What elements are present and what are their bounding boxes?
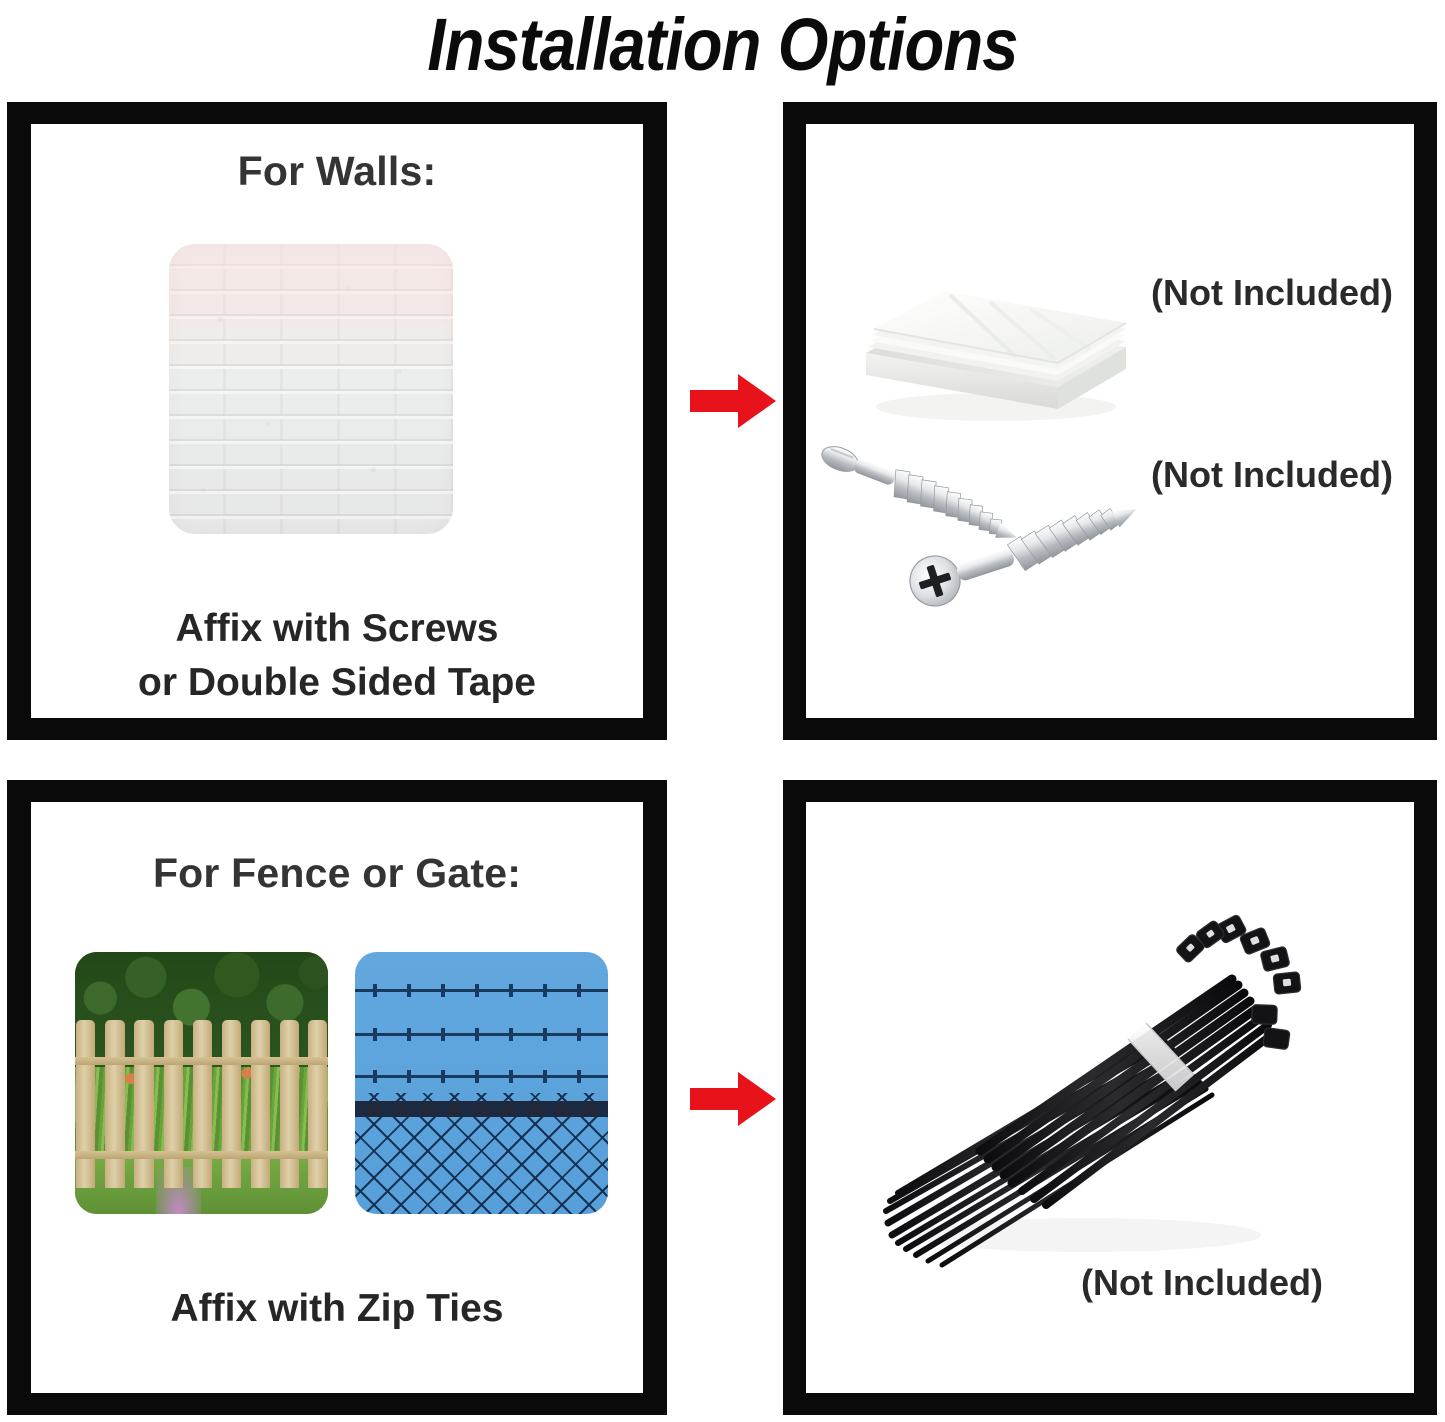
barbed-wire-strand-3 xyxy=(355,1075,608,1078)
panel-fence-hardware: (Not Included) xyxy=(783,780,1437,1415)
wooden-picket-fence-photo xyxy=(75,952,328,1214)
wood-screw-lower-image xyxy=(901,507,1161,617)
zip-ties-not-included-label: (Not Included) xyxy=(1081,1262,1323,1304)
panel-for-fence-content: For Fence or Gate: A xyxy=(31,802,643,1393)
chainlink-mesh xyxy=(355,1093,608,1214)
panel-for-walls: For Walls: Affix with Screws or Double S… xyxy=(7,102,667,740)
page-title: Installation Options xyxy=(87,2,1359,86)
tape-not-included-label: (Not Included) xyxy=(1151,272,1393,314)
for-fence-or-gate-heading: For Fence or Gate: xyxy=(31,850,643,897)
barbed-wire-strand-2 xyxy=(355,1033,608,1036)
barbed-wire-strand-1 xyxy=(355,989,608,992)
arrow-fence-to-hardware-icon xyxy=(688,1070,778,1128)
panel-wall-hardware: (Not Included) xyxy=(783,102,1437,740)
panel-for-fence-or-gate: For Fence or Gate: A xyxy=(7,780,667,1415)
black-zip-ties-bundle-image xyxy=(846,905,1306,1280)
double-sided-tape-pads-image xyxy=(844,229,1144,429)
arrow-walls-to-hardware-icon xyxy=(688,372,778,430)
affix-with-screws-caption-line2: or Double Sided Tape xyxy=(31,656,643,710)
panel-wall-hardware-content: (Not Included) xyxy=(806,124,1414,718)
for-walls-heading: For Walls: xyxy=(31,148,643,195)
brick-top-tint xyxy=(169,244,453,366)
affix-with-screws-caption-line1: Affix with Screws xyxy=(31,602,643,656)
panel-for-walls-content: For Walls: Affix with Screws or Double S… xyxy=(31,124,643,718)
white-brick-wall-swatch-image xyxy=(169,244,453,534)
screws-not-included-label: (Not Included) xyxy=(1151,454,1393,496)
panel-fence-hardware-content: (Not Included) xyxy=(806,802,1414,1393)
picket-photo-pickets xyxy=(75,1020,328,1188)
chain-link-barbed-wire-fence-photo xyxy=(355,952,608,1214)
affix-with-zip-ties-caption: Affix with Zip Ties xyxy=(31,1282,643,1336)
